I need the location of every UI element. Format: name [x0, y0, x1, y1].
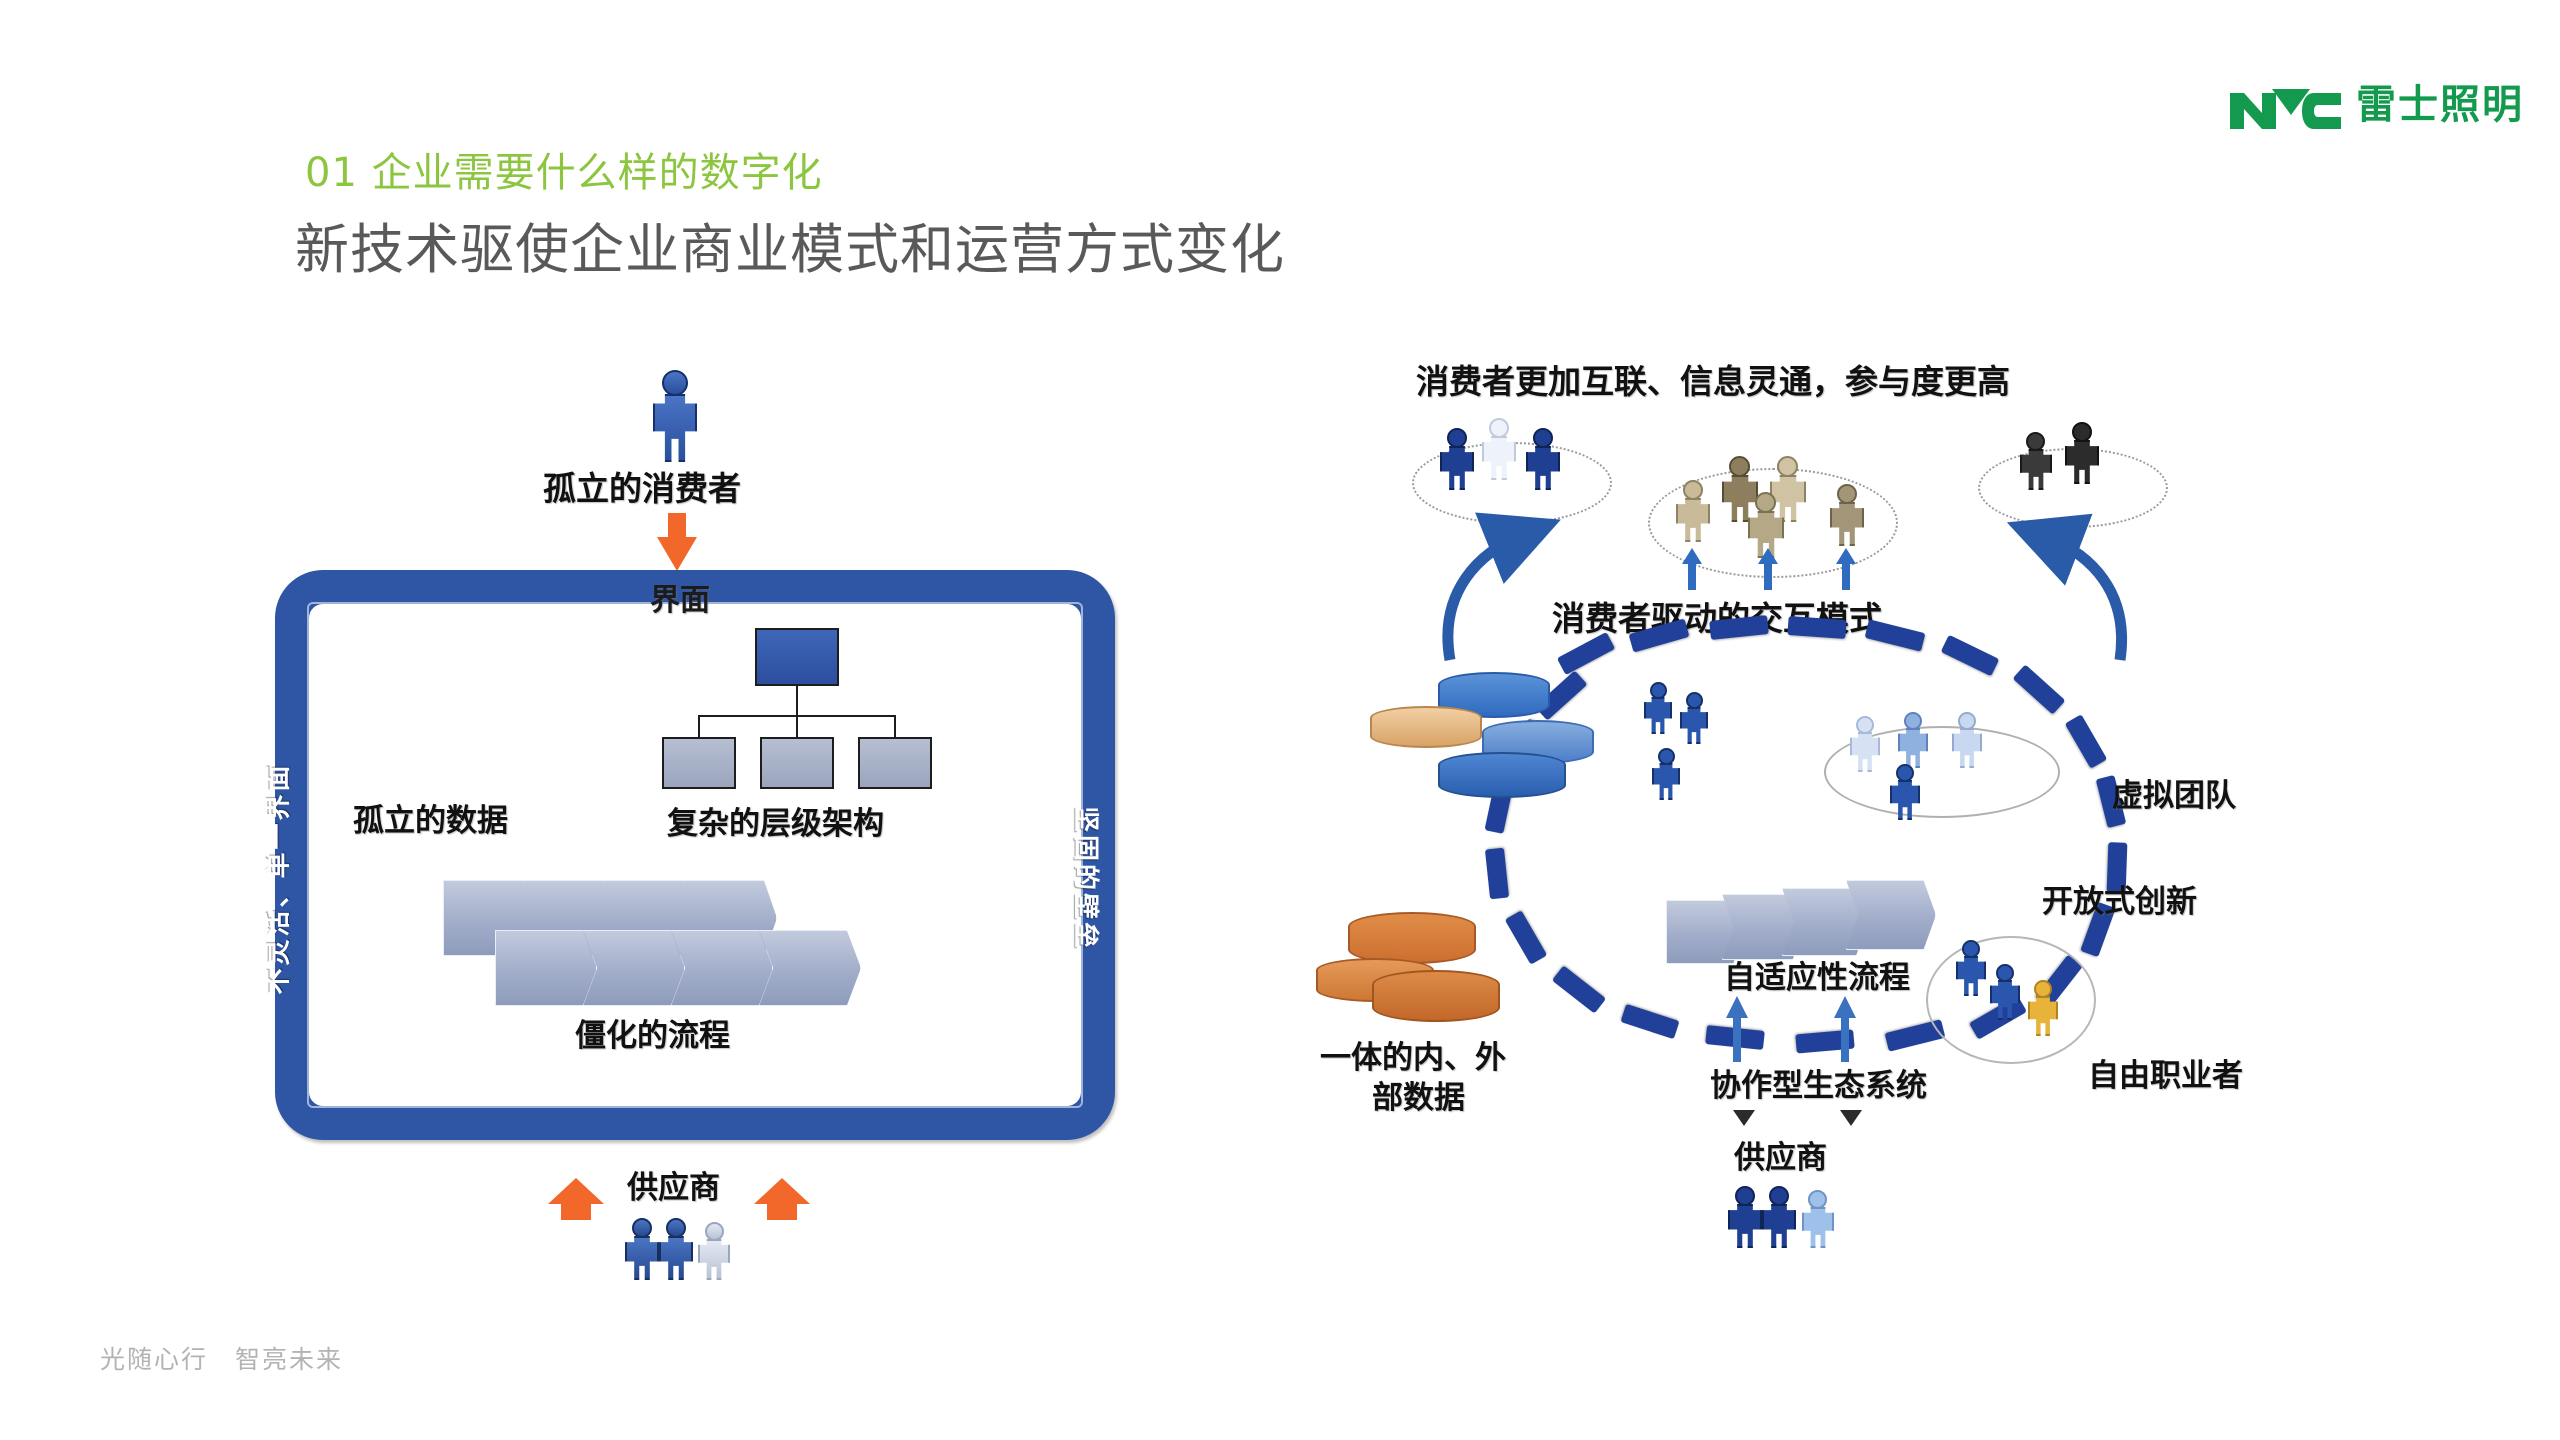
ecosystem-up-arrow-1-icon — [1726, 996, 1748, 1062]
data-disc-tan-1 — [1370, 706, 1482, 748]
data-cylinder-2 — [461, 670, 527, 782]
logo-wordmark: 雷士照明 — [2356, 85, 2524, 125]
data-cylinder-1 — [381, 670, 447, 782]
orange-up-arrow-left-icon — [548, 1160, 604, 1208]
footer-slogan: 光随心行 智亮未来 — [100, 1340, 343, 1376]
rigid-process-label: 僵化的流程 — [575, 1010, 730, 1055]
left-supplier-label: 供应商 — [627, 1162, 720, 1207]
hierarchy-label: 复杂的层级架构 — [667, 798, 884, 843]
hierarchy-child-box-3 — [858, 737, 932, 789]
data-disc-orange-1 — [1348, 912, 1476, 964]
right-supplier-person-3-icon — [1802, 1190, 1834, 1248]
process-chevron-row2-3 — [671, 930, 773, 1006]
right-supplier-person-1-icon — [1728, 1186, 1762, 1248]
frame-left-vertical-label: 不灵活、单一界面 — [258, 762, 295, 994]
integrated-data-label-line2: 部数据 — [1372, 1072, 1465, 1117]
supplier-person-2-icon — [659, 1218, 693, 1280]
slide-root: 雷士照明 01 企业需要什么样的数字化 新技术驱使企业商业模式和运营方式变化 孤… — [0, 0, 2560, 1440]
process-chevron-row2-2 — [583, 930, 685, 1006]
supplier-down-marker-2-icon — [1840, 1110, 1862, 1126]
process-chevron-row2-1 — [495, 930, 597, 1006]
isolated-data-label: 孤立的数据 — [353, 795, 508, 840]
brand-logo: 雷士照明 — [2228, 70, 2528, 140]
adaptive-chevron-4 — [1846, 880, 1936, 950]
open-innovation-label: 开放式创新 — [2042, 876, 2197, 921]
consumer-person-icon — [653, 370, 697, 462]
ring-person-left-3-icon — [1652, 748, 1680, 800]
freelancer-person-3-icon — [2028, 980, 2058, 1036]
supplier-person-3-icon — [698, 1222, 730, 1280]
section-eyebrow: 01 企业需要什么样的数字化 — [305, 140, 823, 198]
data-disc-blue-3 — [1438, 752, 1566, 798]
hierarchy-connector-vertical — [796, 686, 798, 716]
integrated-data-label-line1: 一体的内、外 — [1320, 1032, 1506, 1077]
ecosystem-label: 协作型生态系统 — [1710, 1060, 1927, 1105]
frame-right-vertical-label: 坚固的壁垒 — [1069, 806, 1106, 951]
right-diagram: 消费者更加互联、信息灵通，参与度更高 — [1330, 360, 2450, 1290]
left-diagram: 孤立的消费者 界面 不灵活、单一界面 坚固的壁垒 孤立的数据 复杂的层级架构 — [255, 370, 1175, 1300]
hierarchy-child-box-2 — [760, 737, 834, 789]
virtual-team-person-3-icon — [1952, 712, 1982, 768]
hierarchy-drop-3 — [894, 715, 896, 737]
hierarchy-root-box — [755, 628, 839, 686]
data-disc-orange-3 — [1372, 970, 1500, 1022]
right-supplier-person-2-icon — [1762, 1186, 1796, 1248]
freelancer-person-2-icon — [1990, 964, 2020, 1020]
virtual-team-person-4-icon — [1890, 764, 1920, 820]
ring-seg-4 — [1787, 616, 1846, 639]
data-cylinder-3 — [541, 670, 607, 782]
right-supplier-label: 供应商 — [1734, 1132, 1827, 1177]
ecosystem-up-arrow-2-icon — [1834, 996, 1856, 1062]
orange-up-arrow-right-icon — [754, 1160, 810, 1208]
supplier-person-1-icon — [625, 1218, 659, 1280]
virtual-team-label: 虚拟团队 — [2112, 770, 2236, 815]
page-title: 新技术驱使企业商业模式和运营方式变化 — [295, 205, 1285, 284]
hierarchy-child-box-1 — [662, 737, 736, 789]
freelancer-person-1-icon — [1956, 940, 1986, 996]
process-chevron-row2-4 — [759, 930, 861, 1006]
ring-person-left-2-icon — [1680, 692, 1708, 744]
orange-down-arrow-icon — [657, 513, 697, 571]
ring-person-left-1-icon — [1644, 682, 1672, 734]
freelancer-label: 自由职业者 — [2088, 1050, 2243, 1095]
nvc-logo-icon — [2228, 79, 2346, 131]
hierarchy-drop-2 — [796, 715, 798, 737]
supplier-down-marker-1-icon — [1733, 1110, 1755, 1126]
interface-label: 界面 — [650, 575, 710, 619]
adaptive-process-label: 自适应性流程 — [1724, 952, 1910, 997]
virtual-team-person-2-icon — [1898, 712, 1928, 768]
hierarchy-drop-1 — [698, 715, 700, 737]
left-top-label: 孤立的消费者 — [543, 462, 741, 510]
virtual-team-person-1-icon — [1850, 716, 1880, 772]
